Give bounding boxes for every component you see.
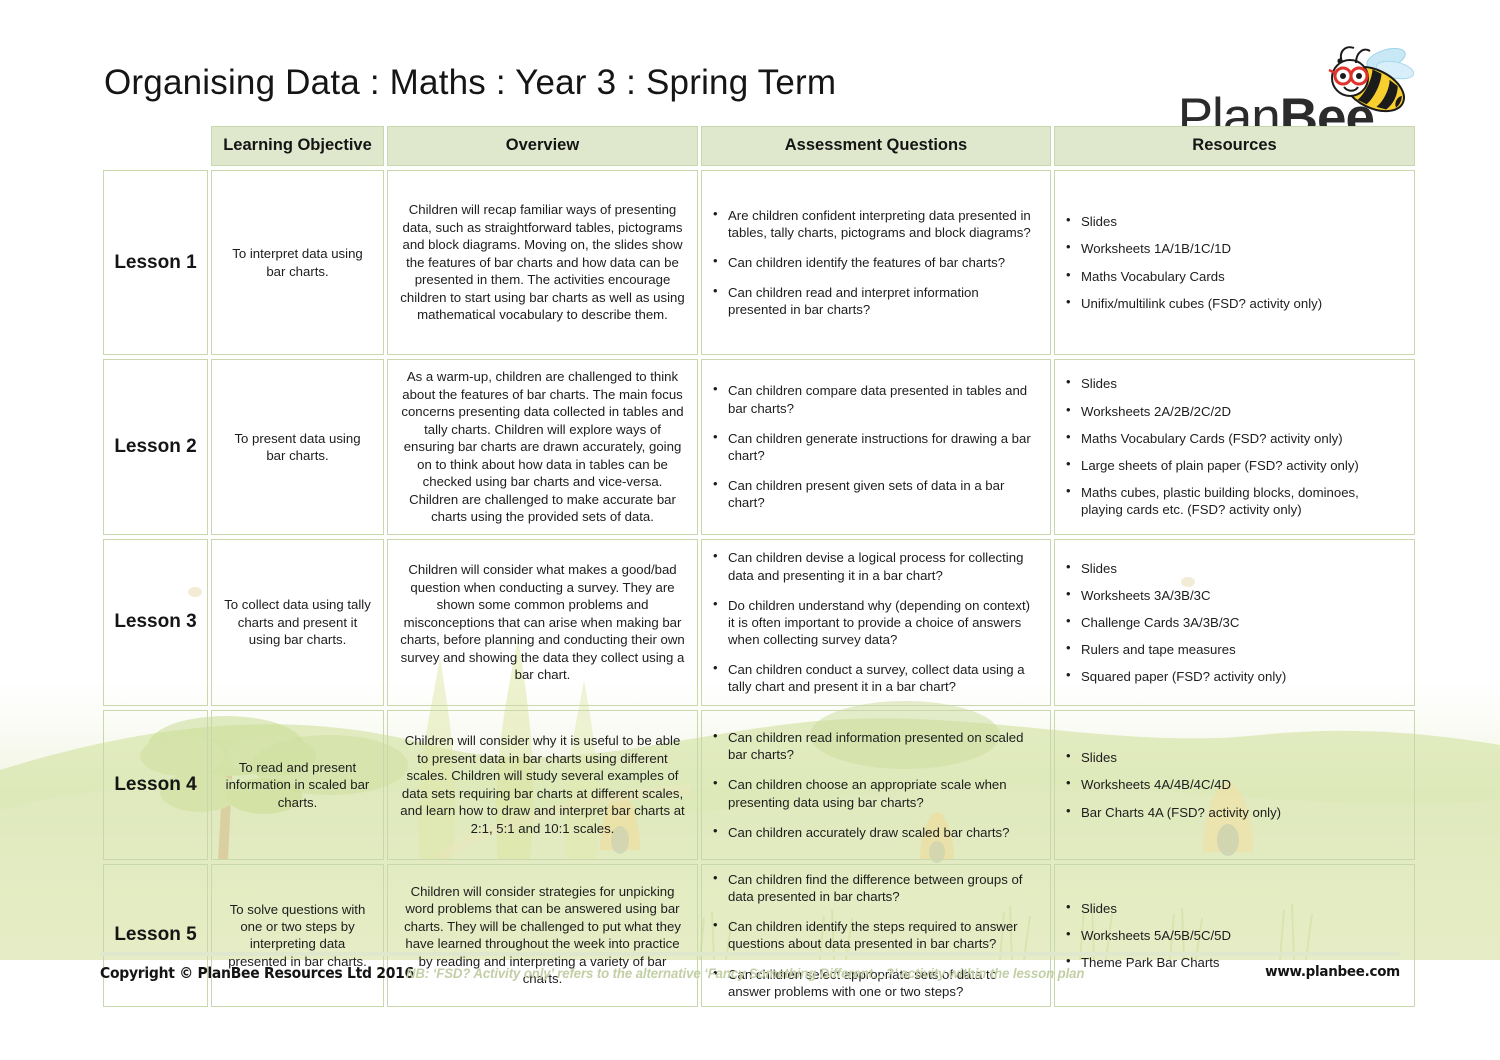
- lesson-number-cell: Lesson 2: [103, 359, 208, 535]
- footer-note-text: NB: ‘FSD? Activity only’ refers to the a…: [406, 966, 1084, 981]
- table-header-row: Learning Objective Overview Assessment Q…: [103, 126, 1415, 166]
- learning-objective-cell: To present data using bar charts.: [211, 359, 384, 535]
- assessment-list: Can children compare data presented in t…: [708, 382, 1040, 511]
- list-item: Worksheets 1A/1B/1C/1D: [1081, 240, 1404, 257]
- lesson-number-cell: Lesson 3: [103, 539, 208, 706]
- list-item: Maths Vocabulary Cards: [1081, 268, 1404, 285]
- list-item: Worksheets 5A/5B/5C/5D: [1081, 927, 1404, 944]
- list-item: Can children choose an appropriate scale…: [728, 776, 1040, 810]
- page-footer: Copyright © PlanBee Resources Ltd 2016 N…: [0, 952, 1500, 1002]
- list-item: Challenge Cards 3A/3B/3C: [1081, 614, 1404, 631]
- resources-cell: Slides Worksheets 2A/2B/2C/2D Maths Voca…: [1054, 359, 1415, 535]
- list-item: Do children understand why (depending on…: [728, 597, 1040, 648]
- list-item: Can children read and interpret informat…: [728, 284, 1040, 318]
- assessment-list: Can children devise a logical process fo…: [708, 549, 1040, 695]
- list-item: Unifix/multilink cubes (FSD? activity on…: [1081, 295, 1404, 312]
- overview-cell: Children will recap familiar ways of pre…: [387, 170, 698, 355]
- list-item: Squared paper (FSD? activity only): [1081, 668, 1404, 685]
- assessment-questions-cell: Are children confident interpreting data…: [701, 170, 1051, 355]
- assessment-questions-cell: Can children compare data presented in t…: [701, 359, 1051, 535]
- bee-with-glasses-icon: [1312, 43, 1422, 123]
- resources-cell: Slides Worksheets 3A/3B/3C Challenge Car…: [1054, 539, 1415, 706]
- copyright-text: Copyright © PlanBee Resources Ltd 2016: [100, 964, 414, 982]
- learning-objective-cell: To read and present information in scale…: [211, 710, 384, 860]
- list-item: Can children conduct a survey, collect d…: [728, 661, 1040, 695]
- list-item: Maths Vocabulary Cards (FSD? activity on…: [1081, 430, 1404, 447]
- learning-objective-cell: To collect data using tally charts and p…: [211, 539, 384, 706]
- list-item: Maths cubes, plastic building blocks, do…: [1081, 484, 1404, 518]
- assessment-list: Are children confident interpreting data…: [708, 207, 1040, 319]
- overview-cell: Children will consider why it is useful …: [387, 710, 698, 860]
- list-item: Large sheets of plain paper (FSD? activi…: [1081, 457, 1404, 474]
- table-row: Lesson 2 To present data using bar chart…: [103, 359, 1415, 535]
- resources-list: Slides Worksheets 4A/4B/4C/4D Bar Charts…: [1061, 749, 1404, 820]
- assessment-questions-cell: Can children read information presented …: [701, 710, 1051, 860]
- list-item: Can children identify the features of ba…: [728, 254, 1040, 271]
- table-corner-cell: [103, 126, 208, 166]
- list-item: Are children confident interpreting data…: [728, 207, 1040, 241]
- table-row: Lesson 4 To read and present information…: [103, 710, 1415, 860]
- table-row: Lesson 1 To interpret data using bar cha…: [103, 170, 1415, 355]
- lesson-number-cell: Lesson 1: [103, 170, 208, 355]
- list-item: Can children accurately draw scaled bar …: [728, 824, 1040, 841]
- list-item: Bar Charts 4A (FSD? activity only): [1081, 804, 1404, 821]
- list-item: Slides: [1081, 375, 1404, 392]
- resources-list: Slides Worksheets 3A/3B/3C Challenge Car…: [1061, 560, 1404, 686]
- lesson-plan-table: Learning Objective Overview Assessment Q…: [100, 122, 1418, 1011]
- list-item: Slides: [1081, 560, 1404, 577]
- website-url[interactable]: www.planbee.com: [1265, 964, 1400, 980]
- list-item: Can children compare data presented in t…: [728, 382, 1040, 416]
- list-item: Slides: [1081, 749, 1404, 766]
- table-row: Lesson 3 To collect data using tally cha…: [103, 539, 1415, 706]
- assessment-list: Can children read information presented …: [708, 729, 1040, 841]
- overview-cell: Children will consider what makes a good…: [387, 539, 698, 706]
- list-item: Can children generate instructions for d…: [728, 430, 1040, 464]
- page-title: Organising Data : Maths : Year 3 : Sprin…: [104, 63, 836, 103]
- resources-list: Slides Worksheets 2A/2B/2C/2D Maths Voca…: [1061, 375, 1404, 518]
- list-item: Can children identify the steps required…: [728, 918, 1040, 952]
- list-item: Worksheets 4A/4B/4C/4D: [1081, 776, 1404, 793]
- list-item: Rulers and tape measures: [1081, 641, 1404, 658]
- overview-cell: As a warm-up, children are challenged to…: [387, 359, 698, 535]
- column-header-assessment-questions: Assessment Questions: [701, 126, 1051, 166]
- resources-list: Slides Worksheets 1A/1B/1C/1D Maths Voca…: [1061, 213, 1404, 312]
- lesson-number-cell: Lesson 4: [103, 710, 208, 860]
- column-header-overview: Overview: [387, 126, 698, 166]
- list-item: Worksheets 3A/3B/3C: [1081, 587, 1404, 604]
- list-item: Can children find the difference between…: [728, 871, 1040, 905]
- list-item: Slides: [1081, 900, 1404, 917]
- list-item: Can children read information presented …: [728, 729, 1040, 763]
- resources-cell: Slides Worksheets 1A/1B/1C/1D Maths Voca…: [1054, 170, 1415, 355]
- column-header-learning-objective: Learning Objective: [211, 126, 384, 166]
- planbee-logo: PlanBee: [1122, 35, 1422, 125]
- resources-cell: Slides Worksheets 4A/4B/4C/4D Bar Charts…: [1054, 710, 1415, 860]
- list-item: Can children present given sets of data …: [728, 477, 1040, 511]
- learning-objective-cell: To interpret data using bar charts.: [211, 170, 384, 355]
- assessment-questions-cell: Can children devise a logical process fo…: [701, 539, 1051, 706]
- list-item: Can children devise a logical process fo…: [728, 549, 1040, 583]
- list-item: Worksheets 2A/2B/2C/2D: [1081, 403, 1404, 420]
- list-item: Slides: [1081, 213, 1404, 230]
- column-header-resources: Resources: [1054, 126, 1415, 166]
- footer-divider: [100, 952, 1400, 956]
